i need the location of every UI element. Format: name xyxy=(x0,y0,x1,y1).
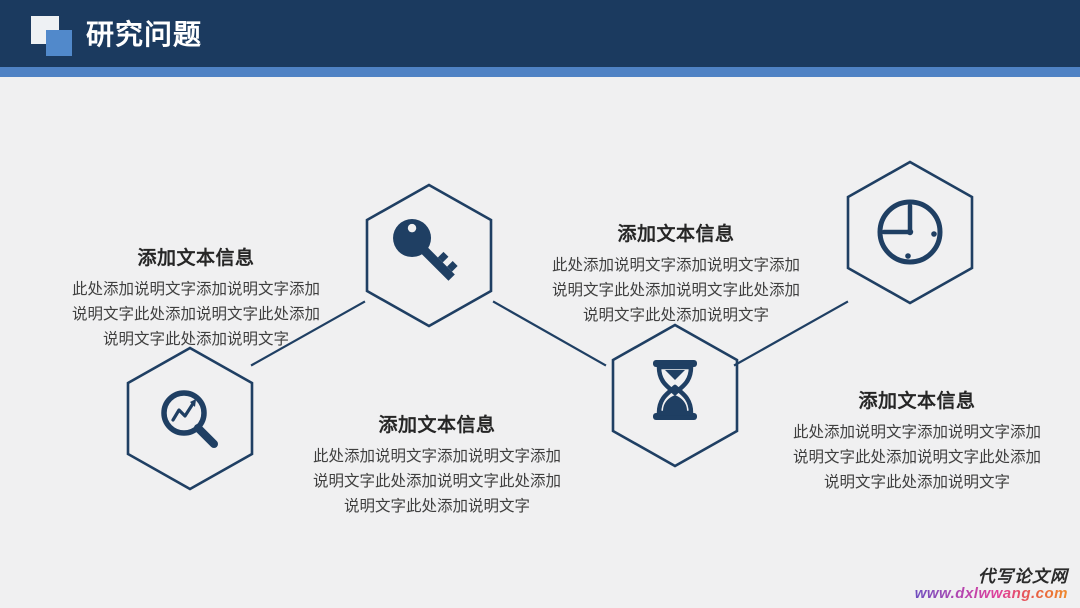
watermark-url: www.dxlwwang.com xyxy=(915,586,1068,602)
hexagon-outline-magnifier xyxy=(128,348,252,489)
text-block-line: 此处添加说明文字添加说明文字添加 xyxy=(277,444,597,469)
text-block-magnifier: 添加文本信息 此处添加说明文字添加说明文字添加 说明文字此处添加说明文字此处添加… xyxy=(36,245,356,352)
magnifier-chart-icon xyxy=(164,393,214,444)
text-block-line: 说明文字此处添加说明文字 xyxy=(277,494,597,519)
text-block-line: 说明文字此处添加说明文字 xyxy=(36,327,356,352)
text-block-line: 此处添加说明文字添加说明文字添加 xyxy=(516,253,836,278)
text-block-clock: 添加文本信息 此处添加说明文字添加说明文字添加 说明文字此处添加说明文字此处添加… xyxy=(757,388,1077,495)
hexagon-diagram: 添加文本信息 此处添加说明文字添加说明文字添加 说明文字此处添加说明文字此处添加… xyxy=(0,77,1080,608)
text-block-title: 添加文本信息 xyxy=(277,412,597,440)
text-block-hourglass: 添加文本信息 此处添加说明文字添加说明文字添加 说明文字此处添加说明文字此处添加… xyxy=(516,221,836,328)
text-block-line: 说明文字此处添加说明文字此处添加 xyxy=(757,445,1077,470)
logo-square-blue xyxy=(46,30,72,56)
key-icon xyxy=(385,211,465,291)
text-block-line: 说明文字此处添加说明文字 xyxy=(516,303,836,328)
text-block-line: 说明文字此处添加说明文字此处添加 xyxy=(36,302,356,327)
text-block-line: 说明文字此处添加说明文字 xyxy=(757,470,1077,495)
hexagon-node-magnifier[interactable] xyxy=(128,348,252,489)
page-title: 研究问题 xyxy=(86,15,202,55)
text-block-title: 添加文本信息 xyxy=(516,221,836,249)
dual-square-logo xyxy=(31,16,77,58)
header-accent-strip xyxy=(0,67,1080,77)
hexagon-node-clock[interactable] xyxy=(848,162,972,303)
text-block-line: 说明文字此处添加说明文字此处添加 xyxy=(516,278,836,303)
hexagon-node-key[interactable] xyxy=(367,185,491,326)
text-block-line: 此处添加说明文字添加说明文字添加 xyxy=(757,420,1077,445)
text-block-title: 添加文本信息 xyxy=(757,388,1077,416)
text-block-key: 添加文本信息 此处添加说明文字添加说明文字添加 说明文字此处添加说明文字此处添加… xyxy=(277,412,597,519)
watermark: 代写论文网 www.dxlwwang.com xyxy=(915,568,1068,602)
clock-icon xyxy=(880,202,940,262)
text-block-line: 说明文字此处添加说明文字此处添加 xyxy=(277,469,597,494)
hexagon-node-hourglass[interactable] xyxy=(613,325,737,466)
text-block-title: 添加文本信息 xyxy=(36,245,356,273)
watermark-brand: 代写论文网 xyxy=(915,568,1068,586)
text-block-line: 此处添加说明文字添加说明文字添加 xyxy=(36,277,356,302)
hourglass-icon xyxy=(653,360,697,420)
